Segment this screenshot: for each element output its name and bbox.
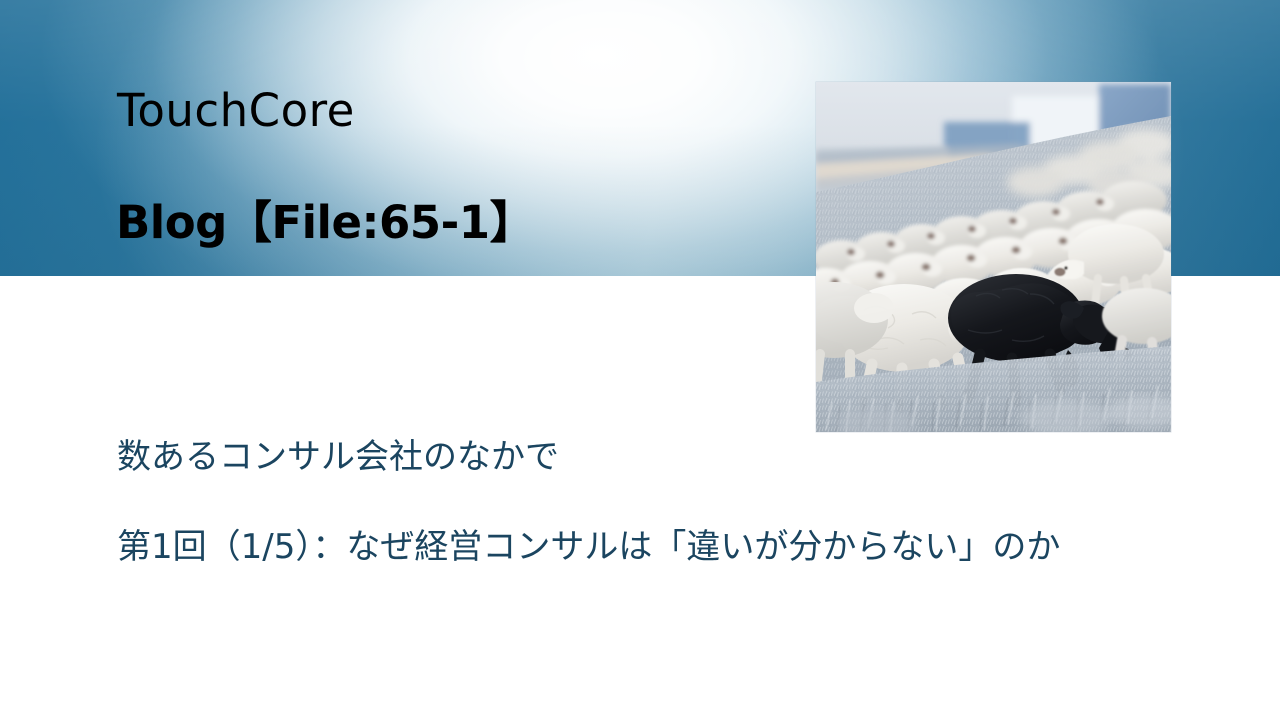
slide-canvas: TouchCore Blog【File:65-1】 (0, 0, 1280, 720)
subtitle-line-2: 第1回（1/5）：なぜ経営コンサルは「違いが分からない」のか (117, 530, 1060, 564)
sheep-photo (816, 82, 1171, 432)
sheep-photo-artwork (816, 82, 1171, 432)
blog-file-label: Blog【File:65-1】 (116, 200, 534, 245)
brand-title: TouchCore (117, 88, 355, 133)
subtitle-line-1: 数あるコンサル会社のなかで (117, 440, 559, 474)
